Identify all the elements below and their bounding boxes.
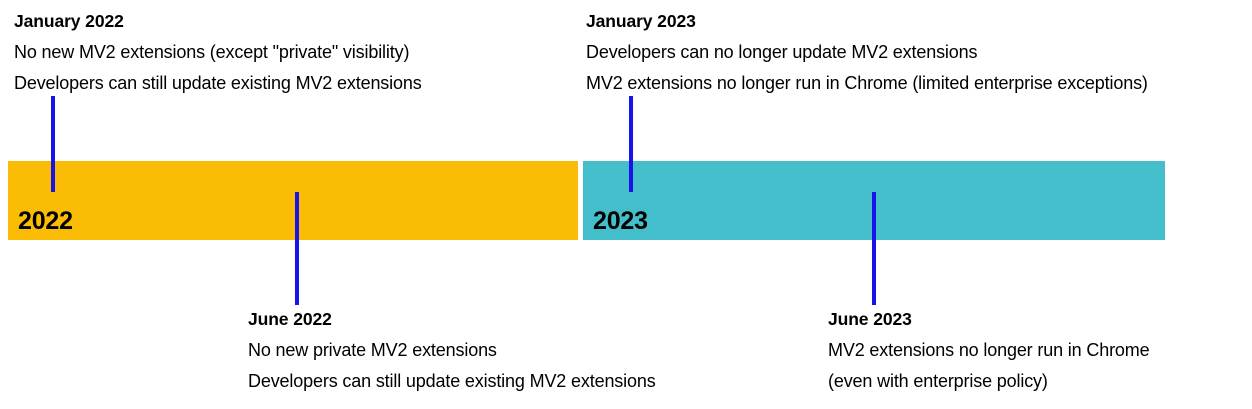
milestone-title-jun-2023: June 2023 xyxy=(828,311,1149,329)
milestone-detail-jun-2023-1: MV2 extensions no longer run in Chrome xyxy=(828,341,1149,359)
milestone-annotation-jan-2022: January 2022 No new MV2 extensions (exce… xyxy=(14,13,422,92)
milestone-detail-jan-2022-2: Developers can still update existing MV2… xyxy=(14,74,422,92)
year-label-2023: 2023 xyxy=(593,209,648,234)
connector-line-jun-2022 xyxy=(295,192,299,305)
milestone-detail-jun-2022-1: No new private MV2 extensions xyxy=(248,341,656,359)
milestone-title-jun-2022: June 2022 xyxy=(248,311,656,329)
milestone-detail-jan-2023-1: Developers can no longer update MV2 exte… xyxy=(586,43,1148,61)
year-bar-2022: 2022 xyxy=(8,161,578,240)
milestone-detail-jun-2022-2: Developers can still update existing MV2… xyxy=(248,372,656,390)
milestone-detail-jan-2023-2: MV2 extensions no longer run in Chrome (… xyxy=(586,74,1148,92)
milestone-title-jan-2022: January 2022 xyxy=(14,13,422,31)
milestone-title-jan-2023: January 2023 xyxy=(586,13,1148,31)
milestone-detail-jan-2022-1: No new MV2 extensions (except "private" … xyxy=(14,43,422,61)
year-label-2022: 2022 xyxy=(18,209,73,234)
milestone-annotation-jan-2023: January 2023 Developers can no longer up… xyxy=(586,13,1148,92)
connector-line-jan-2023 xyxy=(629,96,633,192)
milestone-annotation-jun-2022: June 2022 No new private MV2 extensions … xyxy=(248,311,656,390)
connector-line-jan-2022 xyxy=(51,96,55,192)
milestone-detail-jun-2023-2: (even with enterprise policy) xyxy=(828,372,1149,390)
timeline-diagram: 2022 2023 January 2022 No new MV2 extens… xyxy=(0,0,1252,409)
milestone-annotation-jun-2023: June 2023 MV2 extensions no longer run i… xyxy=(828,311,1149,390)
connector-line-jun-2023 xyxy=(872,192,876,305)
